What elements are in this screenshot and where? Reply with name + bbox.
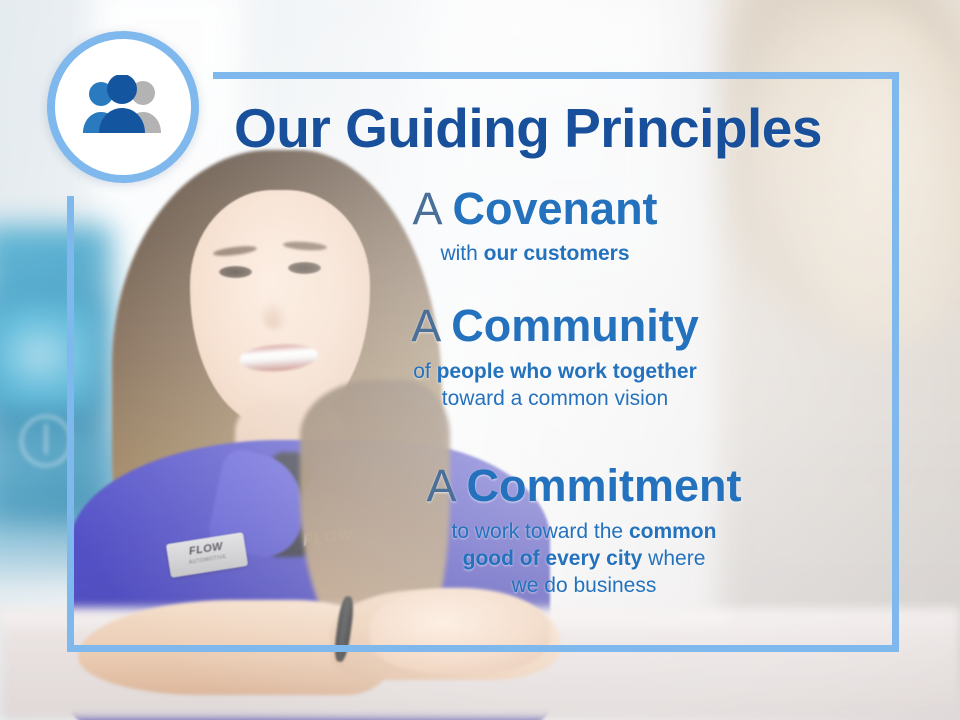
principle-community-keyword: Community (451, 300, 699, 351)
principle-covenant-keyword: Covenant (453, 183, 658, 234)
principle-commitment-lead: A (426, 460, 454, 511)
page-title: Our Guiding Principles (0, 96, 960, 160)
woman-eye-left (219, 266, 252, 278)
principle-commitment: A Commitment to work toward the commongo… (260, 463, 908, 600)
vw-logo-blurred (20, 415, 72, 467)
woman-clasped-hands (370, 588, 550, 673)
showroom-display-car (0, 300, 100, 410)
principle-commitment-heading: A Commitment (260, 463, 908, 509)
principle-community-heading: A Community (220, 303, 890, 349)
principle-community: A Community of people who work togethert… (220, 303, 890, 413)
principle-covenant-description: with our customers (190, 241, 880, 268)
guiding-principles-graphic: FLOW AUTOMOTIVE FLOW (0, 0, 960, 720)
principle-community-description: of people who work togethertoward a comm… (220, 359, 890, 413)
principle-covenant-heading: A Covenant (190, 186, 880, 232)
principle-covenant-lead: A (412, 183, 440, 234)
principle-commitment-description: to work toward the commongood of every c… (260, 519, 908, 600)
principle-community-lead: A (411, 300, 439, 351)
principle-commitment-keyword: Commitment (467, 460, 742, 511)
principle-covenant: A Covenant with our customers (190, 186, 880, 268)
